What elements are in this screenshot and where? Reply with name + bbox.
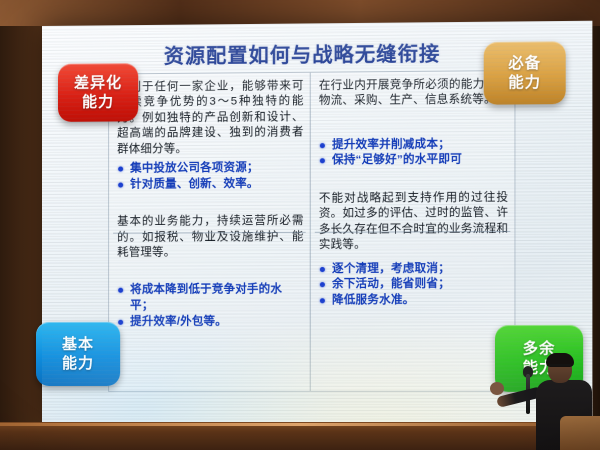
slide-content: 资源配置如何与战略无缝衔接 有别于任何一家企业，能够带来可持续竞争优势的3～5种… — [42, 21, 592, 427]
list-item: 提升效率/外包等。 — [117, 314, 304, 330]
stage-edge-highlight — [0, 423, 600, 426]
bullet-dot-icon — [118, 167, 123, 172]
list-item: 提升效率并削减成本； — [319, 137, 508, 154]
list-item: 将成本降到低于竞争对手的水平； — [117, 283, 304, 315]
left-block-2-bullets: 将成本降到低于竞争对手的水平； 提升效率/外包等。 — [117, 283, 304, 330]
stage-front-edge — [0, 422, 600, 450]
slide-title: 资源配置如何与战略无缝衔接 — [100, 36, 505, 70]
bullet-text: 提升效率/外包等。 — [130, 315, 227, 327]
list-item: 保持“足够好”的水平即可 — [319, 152, 508, 169]
presenter-glasses — [549, 364, 571, 372]
left-block-1-paragraph: 有别于任何一家企业，能够带来可持续竞争优势的3～5种独特的能力。例如独特的产品创… — [117, 79, 304, 158]
bullet-dot-icon — [320, 282, 325, 287]
podium — [560, 416, 600, 450]
list-item: 降低服务水准。 — [319, 292, 508, 308]
bullet-text: 提升效率并削减成本； — [332, 138, 450, 151]
badge-line-2: 能力 — [508, 73, 541, 92]
bullet-dot-icon — [320, 159, 325, 164]
photo-scene: 资源配置如何与战略无缝衔接 有别于任何一家企业，能够带来可持续竞争优势的3～5种… — [0, 0, 600, 450]
right-block-1-paragraph: 在行业内开展竞争所必须的能力。如物流、采购、生产、信息系统等。 — [319, 77, 508, 110]
bullet-dot-icon — [118, 288, 123, 293]
bullet-dot-icon — [118, 319, 123, 324]
bullet-text: 余下活动，能省则省； — [332, 278, 450, 290]
badge-differentiating-capability: 差异化 能力 — [58, 63, 138, 122]
right-block-2-paragraph: 不能对战略起到支持作用的过往投资。如过多的评估、过时的监管、许多长久存在但不合时… — [319, 190, 508, 253]
bullet-text: 保持“足够好”的水平即可 — [332, 154, 462, 167]
list-item: 集中投放公司各项资源； — [117, 160, 304, 177]
bullet-text: 逐个清理，考虑取消； — [332, 262, 450, 275]
list-item: 针对质量、创新、效率。 — [117, 176, 304, 193]
bullet-text: 降低服务水准。 — [332, 294, 414, 306]
badge-line-2: 能力 — [82, 92, 114, 111]
bullet-text: 集中投放公司各项资源； — [130, 162, 258, 175]
presenter-hand — [490, 382, 504, 395]
bullet-text: 将成本降到低于竞争对手的水平； — [130, 284, 282, 312]
badge-line-2: 能力 — [62, 354, 94, 373]
bullet-dot-icon — [118, 182, 123, 187]
slide-body-frame: 有别于任何一家企业，能够带来可持续竞争优势的3～5种独特的能力。例如独特的产品创… — [108, 70, 515, 392]
right-column: 在行业内开展竞争所必须的能力。如物流、采购、生产、信息系统等。 提升效率并削减成… — [311, 71, 515, 391]
badge-line-1: 基本 — [62, 335, 94, 354]
bullet-dot-icon — [320, 143, 325, 148]
right-block-1-bullets: 提升效率并削减成本； 保持“足够好”的水平即可 — [319, 137, 508, 170]
left-block-2-paragraph: 基本的业务能力，持续运营所必需的。如报税、物业及设施维护、能耗管理等。 — [117, 214, 304, 261]
list-item: 逐个清理，考虑取消； — [319, 261, 508, 277]
bullet-dot-icon — [320, 298, 325, 303]
bullet-dot-icon — [320, 267, 325, 272]
right-block-2-bullets: 逐个清理，考虑取消； 余下活动，能省则省； 降低服务水准。 — [319, 261, 508, 309]
badge-basic-capability: 基本 能力 — [36, 322, 120, 386]
projection-screen: 资源配置如何与战略无缝衔接 有别于任何一家企业，能够带来可持续竞争优势的3～5种… — [42, 21, 592, 427]
badge-line-1: 差异化 — [74, 73, 122, 92]
left-column: 有别于任何一家企业，能够带来可持续竞争优势的3～5种独特的能力。例如独特的产品创… — [109, 73, 311, 391]
bullet-text: 针对质量、创新、效率。 — [130, 177, 258, 190]
badge-essential-capability: 必备 能力 — [484, 41, 566, 104]
left-block-1-bullets: 集中投放公司各项资源； 针对质量、创新、效率。 — [117, 160, 304, 192]
badge-line-1: 必备 — [508, 54, 541, 74]
list-item: 余下活动，能省则省； — [319, 277, 508, 293]
